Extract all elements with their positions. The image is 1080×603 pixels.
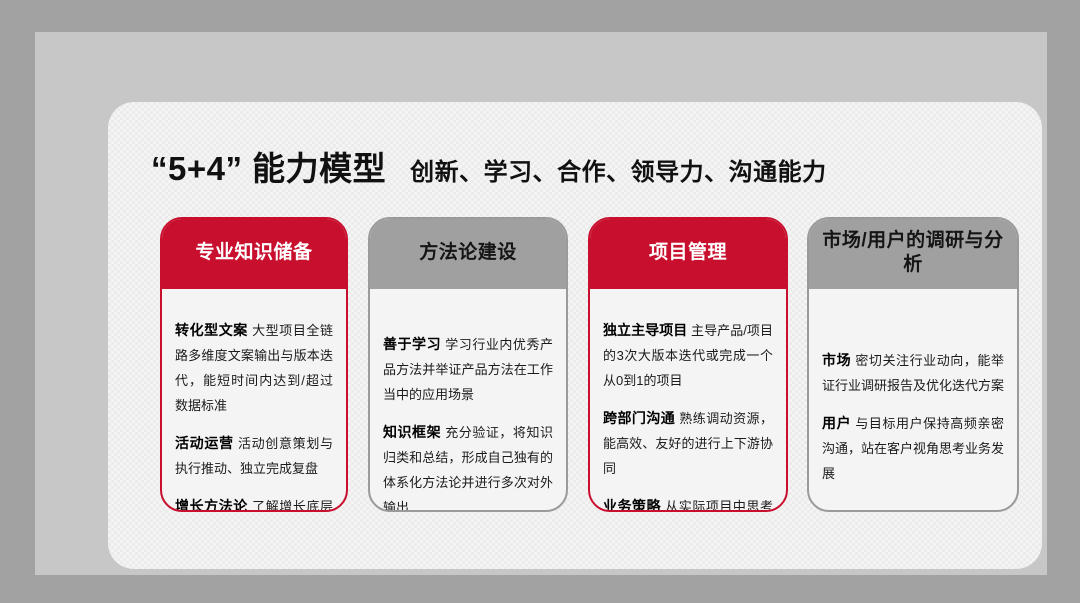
capability-card-4[interactable]: 市场/用户的调研与分析 市场 密切关注行业动向，能举证行业调研报告及优化迭代方案… — [807, 217, 1019, 512]
card-4-header: 市场/用户的调研与分析 — [807, 217, 1019, 289]
card-2-entry-1-term: 善于学习 — [383, 336, 441, 352]
card-4-body: 市场 密切关注行业动向，能举证行业调研报告及优化迭代方案 用户 与目标用户保持高… — [809, 289, 1017, 508]
card-1-title: 专业知识储备 — [195, 241, 312, 265]
capability-card-2[interactable]: 方法论建设 善于学习 学习行业内优秀产品方法并举证产品方法在工作当中的应用场景 … — [368, 217, 568, 512]
card-3-entry-3-term: 业务策略 — [603, 498, 661, 512]
card-4-title: 市场/用户的调研与分析 — [817, 229, 1009, 277]
card-3-header: 项目管理 — [588, 217, 788, 289]
capability-card-row: 专业知识储备 转化型文案 大型项目全链路多维度文案输出与版本迭代，能短时间内达到… — [108, 217, 1042, 517]
card-3-entry-3: 业务策略 从实际项目中思考迭代，找到业务的关键点，寻找新的增长曲线并有效驱动用户… — [603, 494, 773, 512]
card-2-entry-2: 知识框架 充分验证，将知识归类和总结，形成自己独有的体系化方法论并进行多次对外输… — [383, 420, 553, 512]
card-4-entry-2-term: 用户 — [822, 415, 851, 431]
card-2-body: 善于学习 学习行业内优秀产品方法并举证产品方法在工作当中的应用场景 知识框架 充… — [370, 289, 566, 508]
card-1-entry-1: 转化型文案 大型项目全链路多维度文案输出与版本迭代，能短时间内达到/超过数据标准 — [175, 318, 333, 418]
card-4-entry-1: 市场 密切关注行业动向，能举证行业调研报告及优化迭代方案 — [822, 348, 1004, 398]
card-1-entry-2: 活动运营 活动创意策划与执行推动、独立完成复盘 — [175, 431, 333, 481]
card-3-body: 独立主导项目 主导产品/项目的3次大版本迭代或完成一个从0到1的项目 跨部门沟通… — [590, 289, 786, 508]
card-3-entry-2-term: 跨部门沟通 — [603, 410, 675, 426]
card-3-title: 项目管理 — [649, 241, 727, 265]
card-1-entry-1-term: 转化型文案 — [175, 322, 248, 338]
capability-card-1[interactable]: 专业知识储备 转化型文案 大型项目全链路多维度文案输出与版本迭代，能短时间内达到… — [160, 217, 348, 512]
card-1-body: 转化型文案 大型项目全链路多维度文案输出与版本迭代，能短时间内达到/超过数据标准… — [162, 289, 346, 508]
page-title: “5+4” 能力模型 — [151, 142, 386, 190]
card-3-entry-2: 跨部门沟通 熟练调动资源，能高效、友好的进行上下游协同 — [603, 406, 773, 481]
card-2-title: 方法论建设 — [419, 241, 517, 265]
card-2-entry-1: 善于学习 学习行业内优秀产品方法并举证产品方法在工作当中的应用场景 — [383, 332, 553, 407]
card-2-entry-2-term: 知识框架 — [383, 424, 441, 440]
card-2-header: 方法论建设 — [368, 217, 568, 289]
card-1-entry-3-term: 增长方法论 — [175, 498, 248, 512]
capability-card-3[interactable]: 项目管理 独立主导项目 主导产品/项目的3次大版本迭代或完成一个从0到1的项目 … — [588, 217, 788, 512]
card-3-entry-1-term: 独立主导项目 — [603, 322, 687, 338]
slide-content-panel: “5+4” 能力模型 创新、学习、合作、领导力、沟通能力 专业知识储备 转化型文… — [108, 102, 1042, 569]
card-1-entry-3: 增长方法论 了解增长底层方法论，能进行简单的用户分层及策略、数据分析 — [175, 494, 333, 512]
slide-outer-background: “5+4” 能力模型 创新、学习、合作、领导力、沟通能力 专业知识储备 转化型文… — [0, 0, 1080, 603]
slide-frame: “5+4” 能力模型 创新、学习、合作、领导力、沟通能力 专业知识储备 转化型文… — [35, 32, 1047, 575]
slide-heading: “5+4” 能力模型 创新、学习、合作、领导力、沟通能力 — [151, 142, 827, 190]
card-4-entry-2: 用户 与目标用户保持高频亲密沟通，站在客户视角思考业务发展 — [822, 411, 1004, 486]
card-1-entry-2-term: 活动运营 — [175, 435, 234, 451]
page-subtitle: 创新、学习、合作、领导力、沟通能力 — [410, 152, 827, 187]
card-3-entry-1: 独立主导项目 主导产品/项目的3次大版本迭代或完成一个从0到1的项目 — [603, 318, 773, 393]
card-4-entry-1-term: 市场 — [822, 352, 851, 368]
card-1-header: 专业知识储备 — [160, 217, 348, 289]
